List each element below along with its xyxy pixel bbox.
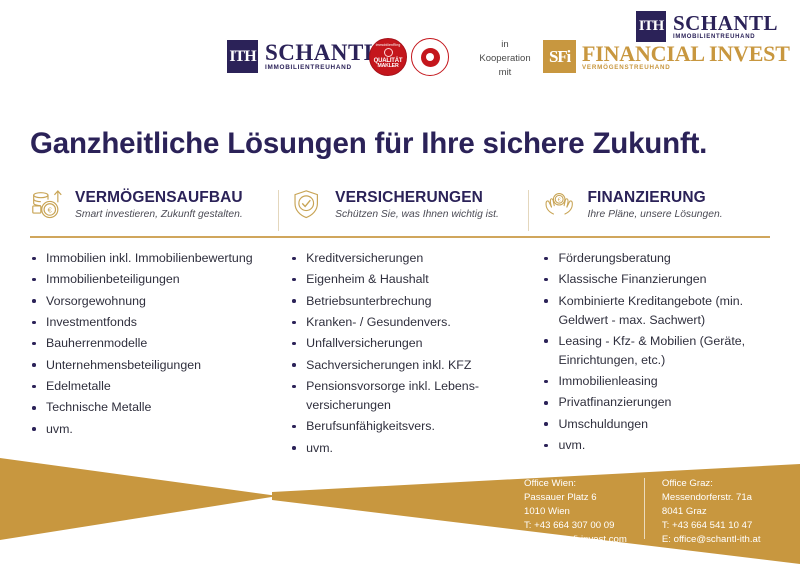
ith-logo-subtitle-topright: IMMOBILIENTREUHAND bbox=[673, 34, 778, 40]
sfi-monogram-icon: SFi bbox=[543, 40, 576, 73]
schantl-ith-logo-main: ITH SCHANTL IMMOBILIENTREUHAND bbox=[227, 40, 380, 73]
svg-text:€: € bbox=[48, 206, 53, 215]
list-item: Bauherrenmodelle bbox=[30, 334, 278, 353]
office-email[interactable]: E: office@sfi-invest.com bbox=[524, 533, 627, 547]
column-versicherungen: VERSICHERUNGEN Schützen Sie, was Ihnen w… bbox=[278, 188, 528, 460]
column-divider bbox=[528, 190, 529, 231]
list-item: Sachversicherungen inkl. KFZ bbox=[290, 356, 528, 375]
seal-dot-icon bbox=[384, 48, 393, 57]
office-street: Messendorferstr. 71a bbox=[662, 491, 761, 505]
ith-logo-name: SCHANTL bbox=[265, 41, 380, 65]
flyer-page: ITH SCHANTL IMMOBILIENTREUHAND Immobilie… bbox=[0, 0, 800, 564]
coins-euro-growth-icon: € bbox=[30, 188, 66, 222]
service-list-vermoegensaufbau: Immobilien inkl. Immobilienbewertung Imm… bbox=[30, 232, 278, 439]
column-title: VERMÖGENSAUFBAU bbox=[75, 189, 243, 206]
sfi-logo-wordmark: FINANCIAL INVEST VERMÖGENSTREUHAND bbox=[582, 42, 790, 72]
column-title: VERSICHERUNGEN bbox=[335, 189, 499, 206]
column-titles: FINANZIERUNG Ihre Pläne, unsere Lösungen… bbox=[587, 188, 722, 221]
list-item: Edelmetalle bbox=[30, 377, 278, 396]
column-vermoegensaufbau: € VERMÖGENSAUFBAU Smart investieren, Zuk… bbox=[30, 188, 278, 460]
office-phone[interactable]: T: +43 664 307 00 09 bbox=[524, 519, 627, 533]
list-item: Klassische Finanzierungen bbox=[542, 270, 770, 289]
cooperation-line-1: in bbox=[474, 38, 536, 52]
sfi-logo-name: FINANCIAL INVEST bbox=[582, 42, 790, 65]
ith-logo-wordmark: SCHANTL IMMOBILIENTREUHAND bbox=[265, 41, 380, 72]
column-divider bbox=[278, 190, 279, 231]
sfi-logo-subtitle: VERMÖGENSTREUHAND bbox=[582, 65, 790, 72]
shield-check-icon bbox=[290, 188, 326, 222]
column-title: FINANZIERUNG bbox=[587, 189, 722, 206]
office-label: Office Wien: bbox=[524, 477, 627, 491]
office-email[interactable]: E: office@schantl-ith.at bbox=[662, 533, 761, 547]
list-item: Investmentfonds bbox=[30, 313, 278, 332]
column-subtitle: Schützen Sie, was Ihnen wichtig ist. bbox=[335, 206, 499, 221]
logo-bar: ITH SCHANTL IMMOBILIENTREUHAND Immobilie… bbox=[0, 0, 800, 100]
list-item: uvm. bbox=[30, 420, 278, 439]
list-item: Kranken- / Gesundenvers. bbox=[290, 313, 528, 332]
cooperation-label: in Kooperation mit bbox=[474, 38, 536, 79]
wko-seal-icon bbox=[411, 38, 449, 76]
list-item: Kreditversicherungen bbox=[290, 249, 528, 268]
list-item: Immobilienbeteiligungen bbox=[30, 270, 278, 289]
ith-logo-subtitle: IMMOBILIENTREUHAND bbox=[265, 65, 380, 72]
ith-monogram-icon: ITH bbox=[227, 40, 258, 73]
footer-contacts: Office Wien: Passauer Platz 6 1010 Wien … bbox=[524, 477, 761, 547]
seal-top-text: ImmobilienRing bbox=[376, 44, 401, 48]
schantl-ith-logo-topright: ITH SCHANTL IMMOBILIENTREUHAND bbox=[636, 11, 778, 42]
list-item: Vorsorgewohnung bbox=[30, 292, 278, 311]
page-title: Ganzheitliche Lösungen für Ihre sichere … bbox=[30, 127, 775, 161]
column-subtitle: Smart investieren, Zukunft gestalten. bbox=[75, 206, 243, 221]
seal-bottom-text: MAKLER bbox=[378, 64, 399, 69]
office-street: Passauer Platz 6 bbox=[524, 491, 627, 505]
list-item: Immobilien inkl. Immobilienbewertung bbox=[30, 249, 278, 268]
list-item: Eigenheim & Haushalt bbox=[290, 270, 528, 289]
contact-divider bbox=[644, 478, 645, 539]
list-item: Pensionsvorsorge inkl. Lebens-versicheru… bbox=[290, 377, 528, 415]
cooperation-line-2: Kooperation bbox=[474, 52, 536, 66]
office-city: 1010 Wien bbox=[524, 505, 627, 519]
column-titles: VERMÖGENSAUFBAU Smart investieren, Zukun… bbox=[75, 188, 243, 221]
ith-monogram-icon-topright: ITH bbox=[636, 11, 666, 42]
service-list-finanzierung: Förderungsberatung Klassische Finanzieru… bbox=[542, 232, 770, 455]
list-item: Betriebsunterbrechung bbox=[290, 292, 528, 311]
list-item: Technische Metalle bbox=[30, 398, 278, 417]
sfi-financial-invest-logo: SFi FINANCIAL INVEST VERMÖGENSTREUHAND bbox=[543, 40, 790, 73]
office-label: Office Graz: bbox=[662, 477, 761, 491]
office-graz-block: Office Graz: Messendorferstr. 71a 8041 G… bbox=[644, 477, 761, 547]
column-titles: VERSICHERUNGEN Schützen Sie, was Ihnen w… bbox=[335, 188, 499, 221]
hands-holding-coin-icon: € bbox=[542, 188, 578, 222]
wko-seal-core bbox=[426, 53, 434, 61]
list-item: Förderungsberatung bbox=[542, 249, 770, 268]
wko-seal-inner bbox=[421, 48, 440, 67]
svg-text:€: € bbox=[558, 198, 561, 204]
office-city: 8041 Graz bbox=[662, 505, 761, 519]
ith-logo-name-topright: SCHANTL bbox=[673, 12, 778, 34]
office-phone[interactable]: T: +43 664 541 10 47 bbox=[662, 519, 761, 533]
column-header: VERSICHERUNGEN Schützen Sie, was Ihnen w… bbox=[290, 188, 528, 232]
office-wien-block: Office Wien: Passauer Platz 6 1010 Wien … bbox=[524, 477, 627, 547]
list-item: Privatfinanzierungen bbox=[542, 393, 770, 412]
cooperation-line-3: mit bbox=[474, 66, 536, 80]
qualitaetsmakler-seal-icon: ImmobilienRing QUALITÄT MAKLER bbox=[369, 38, 407, 76]
column-header: € FINANZIERUNG Ihre Pläne, unsere Lösung… bbox=[542, 188, 770, 232]
list-item: Umschuldungen bbox=[542, 415, 770, 434]
column-subtitle: Ihre Pläne, unsere Lösungen. bbox=[587, 206, 722, 221]
service-columns: € VERMÖGENSAUFBAU Smart investieren, Zuk… bbox=[30, 188, 770, 460]
list-item: Unternehmensbeteiligungen bbox=[30, 356, 278, 375]
list-item: Berufsunfähigkeitsvers. bbox=[290, 417, 528, 436]
list-item: Leasing - Kfz- & Mobilien (Geräte, Einri… bbox=[542, 332, 770, 370]
column-finanzierung: € FINANZIERUNG Ihre Pläne, unsere Lösung… bbox=[528, 188, 770, 460]
ribbon-left-wedge bbox=[0, 458, 278, 540]
service-list-versicherungen: Kreditversicherungen Eigenheim & Haushal… bbox=[290, 232, 528, 457]
list-item: Immobilienleasing bbox=[542, 372, 770, 391]
list-item: Unfallversicherungen bbox=[290, 334, 528, 353]
column-header: € VERMÖGENSAUFBAU Smart investieren, Zuk… bbox=[30, 188, 278, 232]
list-item: Kombinierte Kreditangebote (min. Geldwer… bbox=[542, 292, 770, 330]
ith-logo-wordmark-topright: SCHANTL IMMOBILIENTREUHAND bbox=[673, 12, 778, 40]
